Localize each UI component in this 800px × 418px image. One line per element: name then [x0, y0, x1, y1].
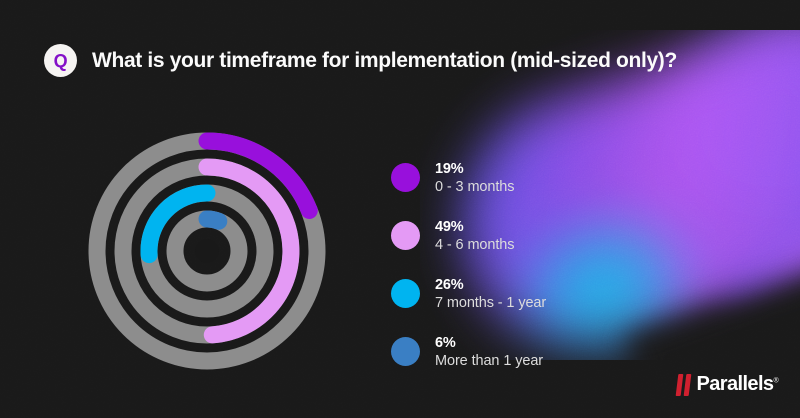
registered-mark-icon: ®: [773, 377, 778, 384]
legend-text: 19% 0 - 3 months: [435, 160, 514, 197]
ring-layer: [97, 141, 317, 361]
legend-item: 49% 4 - 6 months: [391, 218, 546, 255]
legend-text: 49% 4 - 6 months: [435, 218, 514, 255]
legend-swatch-4-6-months: [391, 221, 420, 250]
legend-swatch-7-months-1-year: [391, 279, 420, 308]
legend-label: 4 - 6 months: [435, 236, 514, 255]
legend-item: 19% 0 - 3 months: [391, 160, 546, 197]
legend-swatch-more-than-1-year: [391, 337, 420, 366]
page-title: What is your timeframe for implementatio…: [92, 49, 677, 73]
radial-ring-chart: [77, 121, 337, 381]
ring-arc-3: [207, 219, 219, 221]
legend-swatch-0-3-months: [391, 163, 420, 192]
chart-svg: [77, 121, 337, 381]
legend-percent: 6%: [435, 334, 543, 352]
logo-word-text: Parallels: [697, 373, 774, 395]
logo-bar: [683, 374, 691, 396]
logo-bar: [675, 374, 683, 396]
legend-percent: 19%: [435, 160, 514, 178]
header: Q What is your timeframe for implementat…: [44, 44, 677, 77]
glow-mask: [624, 225, 800, 360]
chart-legend: 19% 0 - 3 months 49% 4 - 6 months 26% 7 …: [391, 160, 546, 371]
parallels-logo: Parallels®: [677, 373, 778, 396]
parallels-bars-icon: [675, 374, 691, 396]
legend-label: More than 1 year: [435, 352, 543, 371]
chart-center-hub: [195, 239, 219, 263]
legend-text: 6% More than 1 year: [435, 334, 543, 371]
legend-percent: 26%: [435, 276, 546, 294]
parallels-wordmark: Parallels®: [697, 373, 778, 396]
legend-item: 6% More than 1 year: [391, 334, 546, 371]
question-badge-icon: Q: [44, 44, 77, 77]
legend-label: 7 months - 1 year: [435, 294, 546, 313]
legend-text: 26% 7 months - 1 year: [435, 276, 546, 313]
legend-label: 0 - 3 months: [435, 178, 514, 197]
legend-item: 26% 7 months - 1 year: [391, 276, 546, 313]
slide-canvas: Q What is your timeframe for implementat…: [0, 0, 800, 418]
legend-percent: 49%: [435, 218, 514, 236]
glow-edge: [712, 219, 800, 340]
